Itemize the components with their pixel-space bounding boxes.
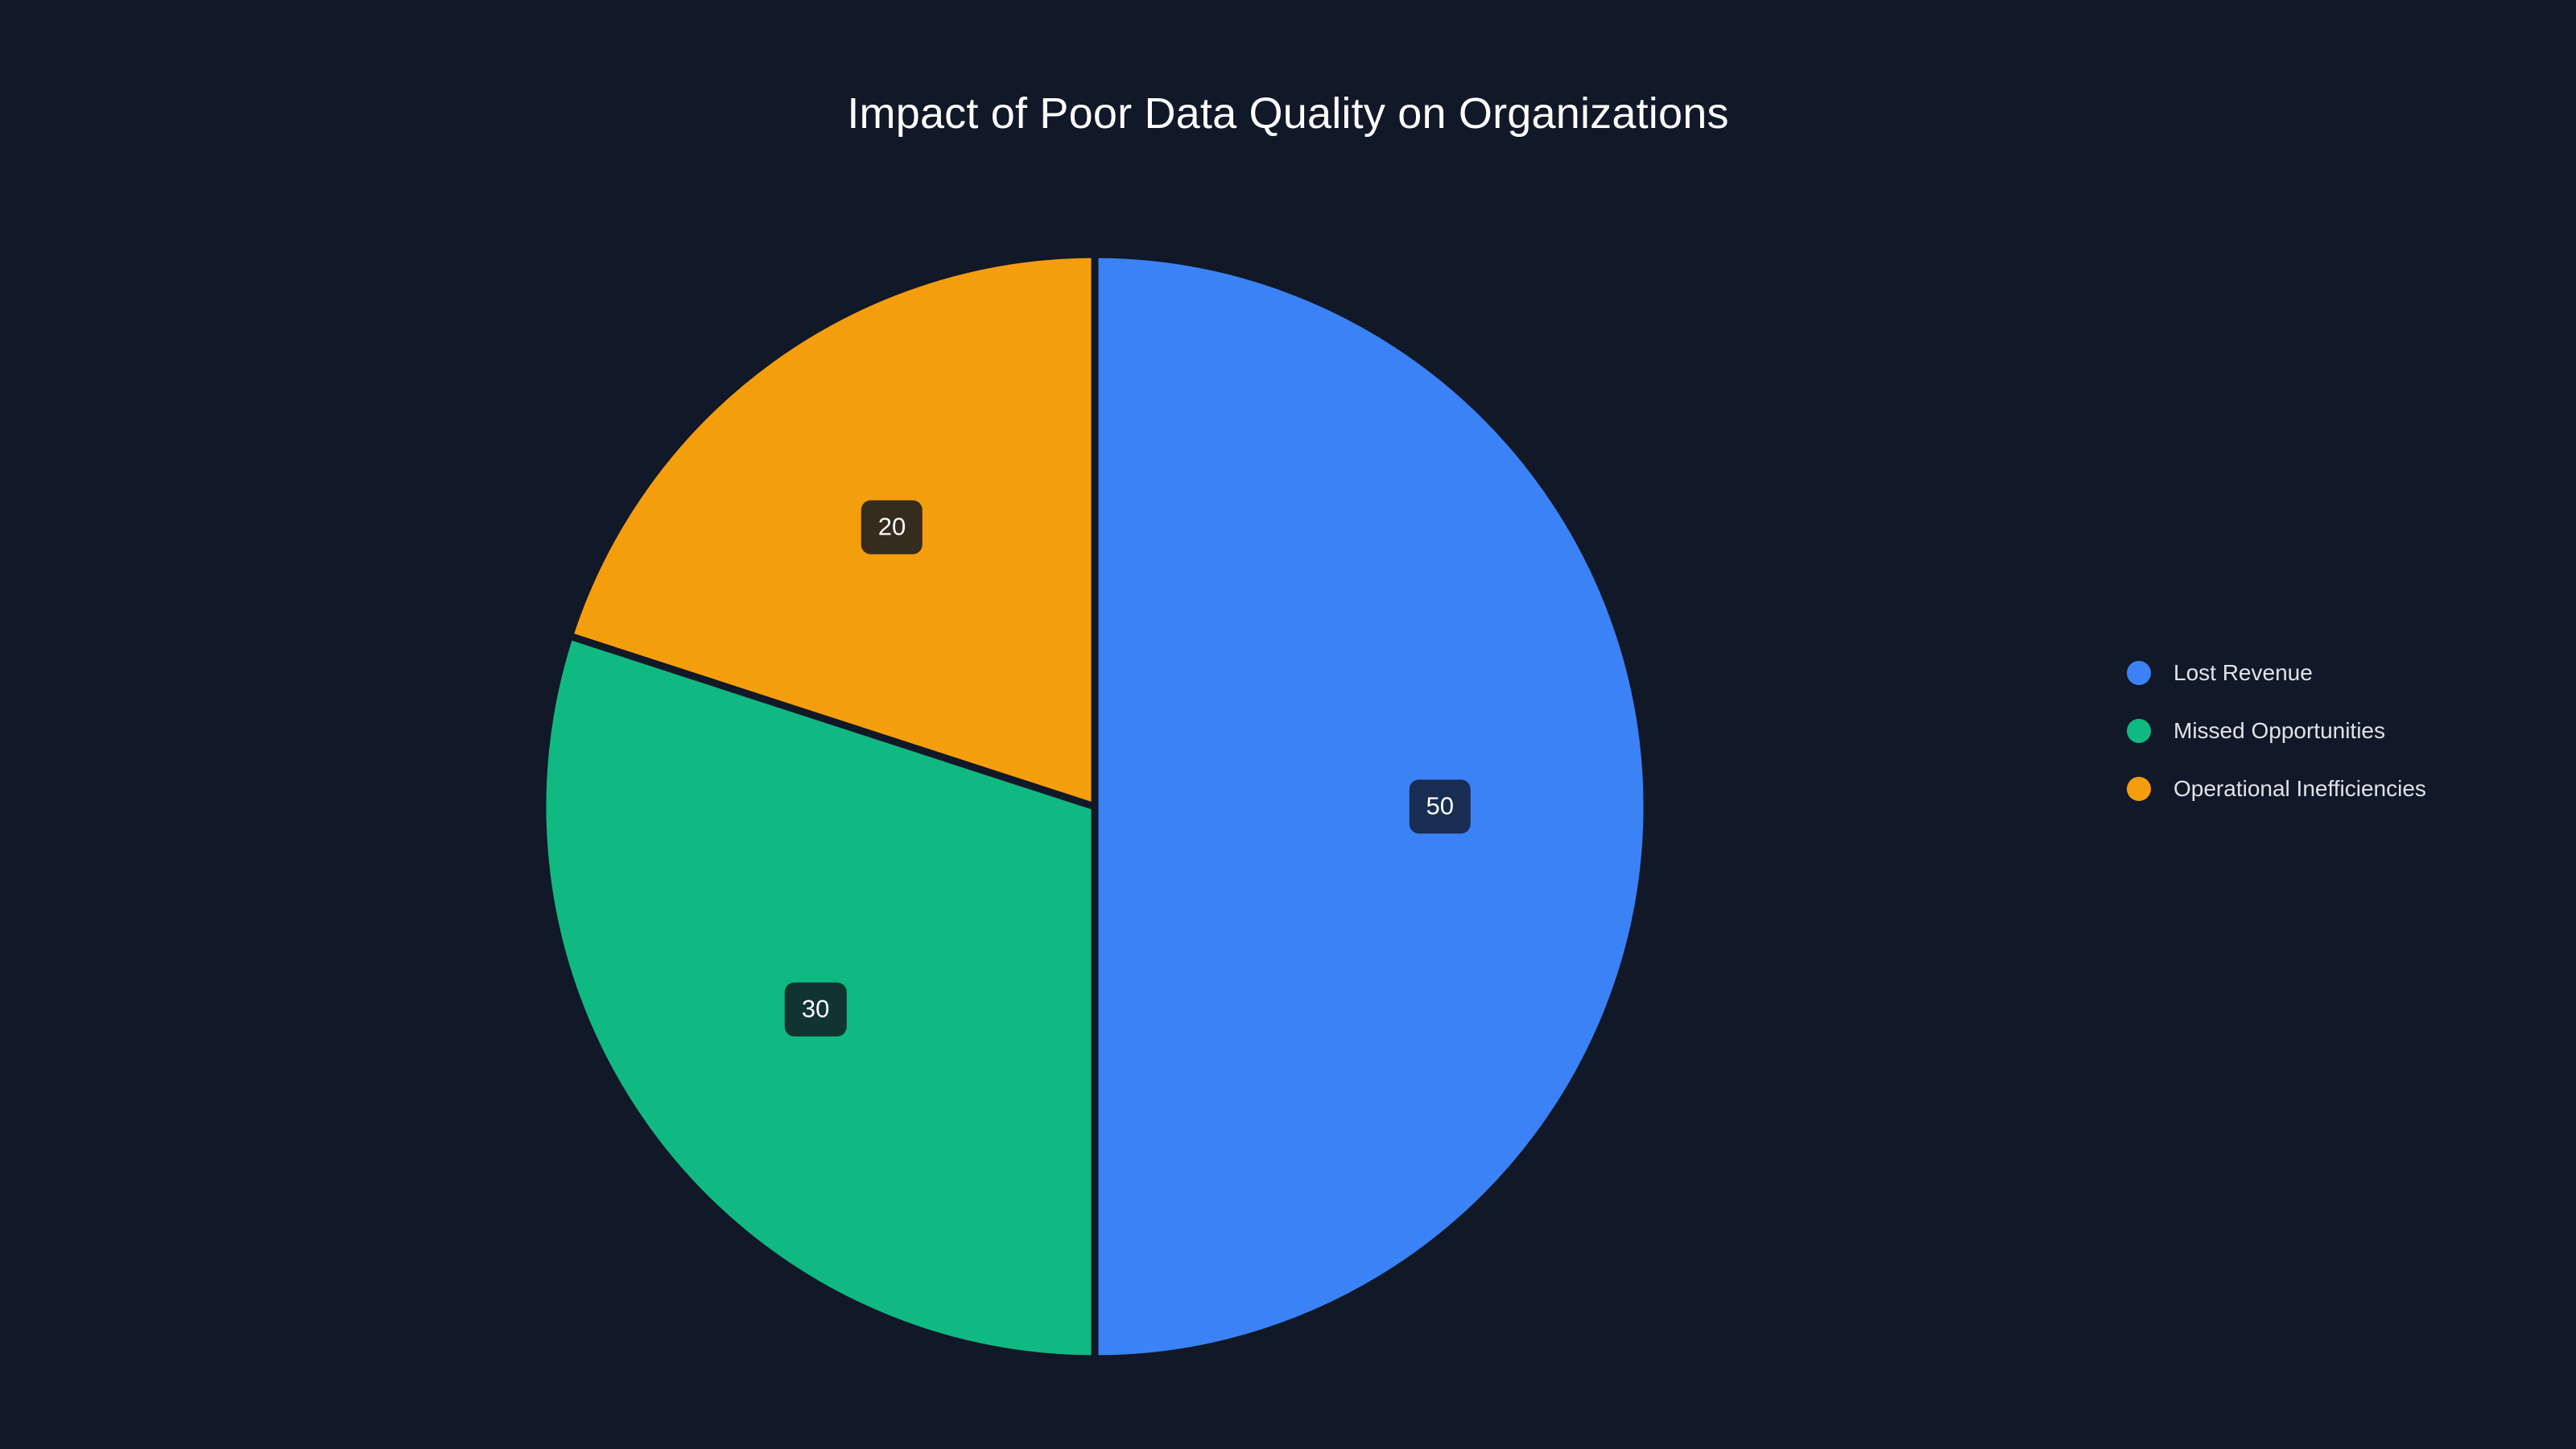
legend-item-lost-revenue[interactable]: Lost Revenue [2127, 644, 2529, 702]
legend-swatch-icon [2127, 777, 2151, 801]
legend-swatch-icon [2127, 661, 2151, 685]
legend-item-label: Missed Opportunities [2173, 720, 2385, 742]
legend-item-operational-inefficiencies[interactable]: Operational Inefficiencies [2127, 760, 2529, 818]
chart-legend: Lost Revenue Missed Opportunities Operat… [2127, 644, 2529, 818]
legend-item-missed-opportunities[interactable]: Missed Opportunities [2127, 702, 2529, 760]
pie-slice[interactable] [1095, 254, 1647, 1359]
legend-swatch-icon [2127, 719, 2151, 743]
pie-chart-figure: Impact of Poor Data Quality on Organizat… [0, 0, 2576, 1449]
legend-item-label: Operational Inefficiencies [2173, 778, 2426, 800]
data-label-operational-inefficiencies: 20 [861, 501, 923, 555]
data-label-missed-opportunities: 30 [785, 983, 846, 1037]
legend-item-label: Lost Revenue [2173, 662, 2313, 684]
pie-slice-group [543, 254, 1647, 1359]
data-label-lost-revenue: 50 [1410, 780, 1471, 834]
